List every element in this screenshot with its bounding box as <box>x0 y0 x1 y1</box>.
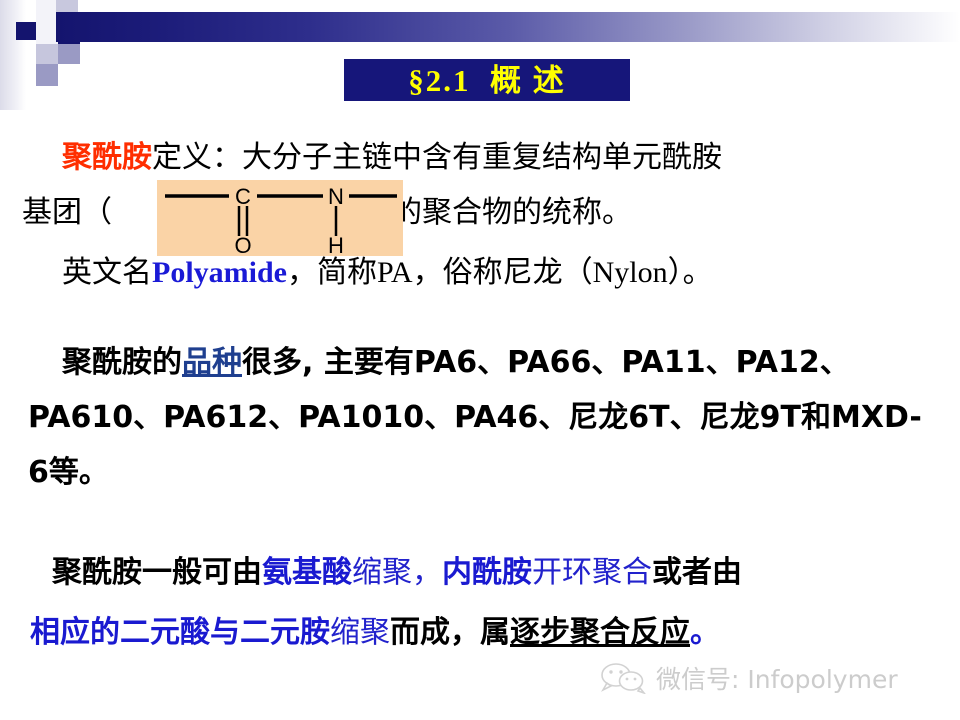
varieties-line3-text: 6等。 <box>28 455 109 490</box>
watermark-text: 微信号: Infopolymer <box>656 660 898 696</box>
varieties-line1-rest: 很多, 主要有PA6、PA66、PA11、PA12、 <box>242 345 850 380</box>
synthesis-l1-a: 聚酰胺一般可由 <box>52 555 262 590</box>
varieties-line-2: PA610、PA612、PA1010、PA46、尼龙6T、尼龙9T和MXD- <box>28 390 922 445</box>
deco-left-fade <box>0 0 26 110</box>
synthesis-line-2: 相应的二元酸与二元胺缩聚而成，属逐步聚合反应。 <box>30 605 720 660</box>
definition-line2-prefix: 基团（ <box>22 195 112 230</box>
synthesis-monomer-diacid-diamine: 相应的二元酸与二元胺 <box>30 615 330 650</box>
amide-structure-svg: C N O H <box>157 180 403 256</box>
synthesis-mechanism: 逐步聚合反应 <box>510 615 690 650</box>
varieties-link[interactable]: 品种 <box>182 345 242 380</box>
deco-square-medium-1 <box>56 0 78 12</box>
amide-structure-diagram: C N O H <box>157 180 403 256</box>
watermark: 微信号: Infopolymer <box>600 660 898 696</box>
definition-term: 聚酰胺 <box>62 140 152 175</box>
synthesis-l2-c: 而成，属 <box>390 615 510 650</box>
atom-label-h: H <box>328 233 344 256</box>
atom-label-n: N <box>328 184 344 209</box>
deco-square-medium-5 <box>36 64 58 86</box>
english-name-prefix: 英文名 <box>62 256 152 289</box>
english-name-suffix: ，简称PA，俗称尼龙（Nylon）。 <box>287 256 713 289</box>
deco-square-medium-4 <box>58 44 80 64</box>
synthesis-l1-f: 或者由 <box>652 555 742 590</box>
synthesis-monomer-lactam: 内酰胺 <box>442 555 532 590</box>
synthesis-l2-period: 。 <box>690 615 720 650</box>
slide-title-box: §2.1 概 述 <box>344 59 630 101</box>
synthesis-reaction-polycondensation-1: 缩聚， <box>352 555 442 590</box>
synthesis-reaction-polycondensation-2: 缩聚 <box>330 615 390 650</box>
atom-label-o: O <box>234 233 251 256</box>
varieties-line-1: 聚酰胺的品种很多, 主要有PA6、PA66、PA11、PA12、 <box>62 335 850 390</box>
header-gradient-bar <box>56 12 960 42</box>
synthesis-reaction-ringopening: 开环聚合 <box>532 555 652 590</box>
english-name-value: Polyamide <box>152 256 287 289</box>
definition-line1-rest: 定义：大分子主链中含有重复结构单元酰胺 <box>152 140 722 175</box>
varieties-line-3: 6等。 <box>28 445 109 500</box>
synthesis-monomer-aminoacid: 氨基酸 <box>262 555 352 590</box>
deco-square-navy-1 <box>16 22 36 40</box>
deco-square-medium-3 <box>36 44 58 64</box>
atom-label-c: C <box>235 184 251 209</box>
varieties-line2-text: PA610、PA612、PA1010、PA46、尼龙6T、尼龙9T和MXD- <box>28 400 922 435</box>
varieties-prefix: 聚酰胺的 <box>62 345 182 380</box>
wechat-icon <box>600 662 646 694</box>
definition-line-1: 聚酰胺定义：大分子主链中含有重复结构单元酰胺 <box>62 130 722 185</box>
page-title: §2.1 概 述 <box>408 65 566 96</box>
synthesis-line-1: 聚酰胺一般可由氨基酸缩聚，内酰胺开环聚合或者由 <box>52 545 742 600</box>
